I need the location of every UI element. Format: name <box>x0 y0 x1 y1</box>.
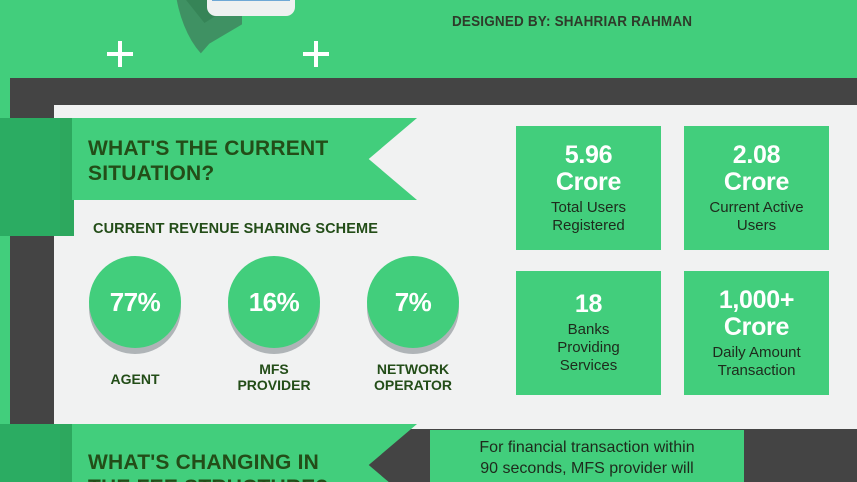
stat-card-active-users: 2.08 Crore Current Active Users <box>684 126 829 250</box>
stat-value: 5.96 Crore <box>556 142 621 196</box>
percent-value: 7% <box>395 287 432 318</box>
stat-label: Banks Providing Services <box>557 321 620 375</box>
stat-card-daily-amount: 1,000+ Crore Daily Amount Transaction <box>684 271 829 395</box>
percent-label: AGENT <box>65 371 205 387</box>
info-card-fee-note: For financial transaction within 90 seco… <box>430 430 744 482</box>
info-text: For financial transaction within 90 seco… <box>430 437 744 482</box>
stat-value: 18 <box>575 291 602 318</box>
percent-label: NETWORK OPERATOR <box>343 361 483 393</box>
stat-value: 2.08 Crore <box>724 142 789 196</box>
designer-credit: DESIGNED BY: SHAHRIAR RAHMAN <box>452 14 692 30</box>
stat-card-total-users: 5.96 Crore Total Users Registered <box>516 126 661 250</box>
banner-shadow-lower <box>60 424 74 482</box>
stat-label: Daily Amount Transaction <box>712 344 800 380</box>
percent-circle: 77% <box>89 256 181 348</box>
percent-value: 16% <box>249 287 300 318</box>
banner-shadow-upper <box>60 118 74 236</box>
stat-value: 1,000+ Crore <box>719 287 794 341</box>
plus-decoration-icon <box>303 41 329 67</box>
speech-bubble-icon <box>207 0 295 16</box>
infographic-page: DESIGNED BY: SHAHRIAR RAHMAN WHAT'S THE … <box>0 0 857 482</box>
stat-label: Total Users Registered <box>551 199 626 235</box>
percent-circle: 16% <box>228 256 320 348</box>
speech-bubble-line <box>212 0 290 1</box>
percent-circle: 7% <box>367 256 459 348</box>
dark-frame-notch-middle <box>10 236 54 424</box>
banner-title-fee-structure: WHAT'S CHANGING IN THE FEE STRUCTURE? <box>88 450 398 482</box>
subtitle-revenue-sharing: CURRENT REVENUE SHARING SCHEME <box>93 221 378 237</box>
banner-title-current-situation: WHAT'S THE CURRENT SITUATION? <box>88 136 388 186</box>
stat-label: Current Active Users <box>709 199 803 235</box>
dark-frame-notch-top <box>10 78 54 118</box>
plus-decoration-icon <box>107 41 133 67</box>
percent-label: MFS PROVIDER <box>204 361 344 393</box>
percent-value: 77% <box>110 287 161 318</box>
stat-card-banks: 18 Banks Providing Services <box>516 271 661 395</box>
